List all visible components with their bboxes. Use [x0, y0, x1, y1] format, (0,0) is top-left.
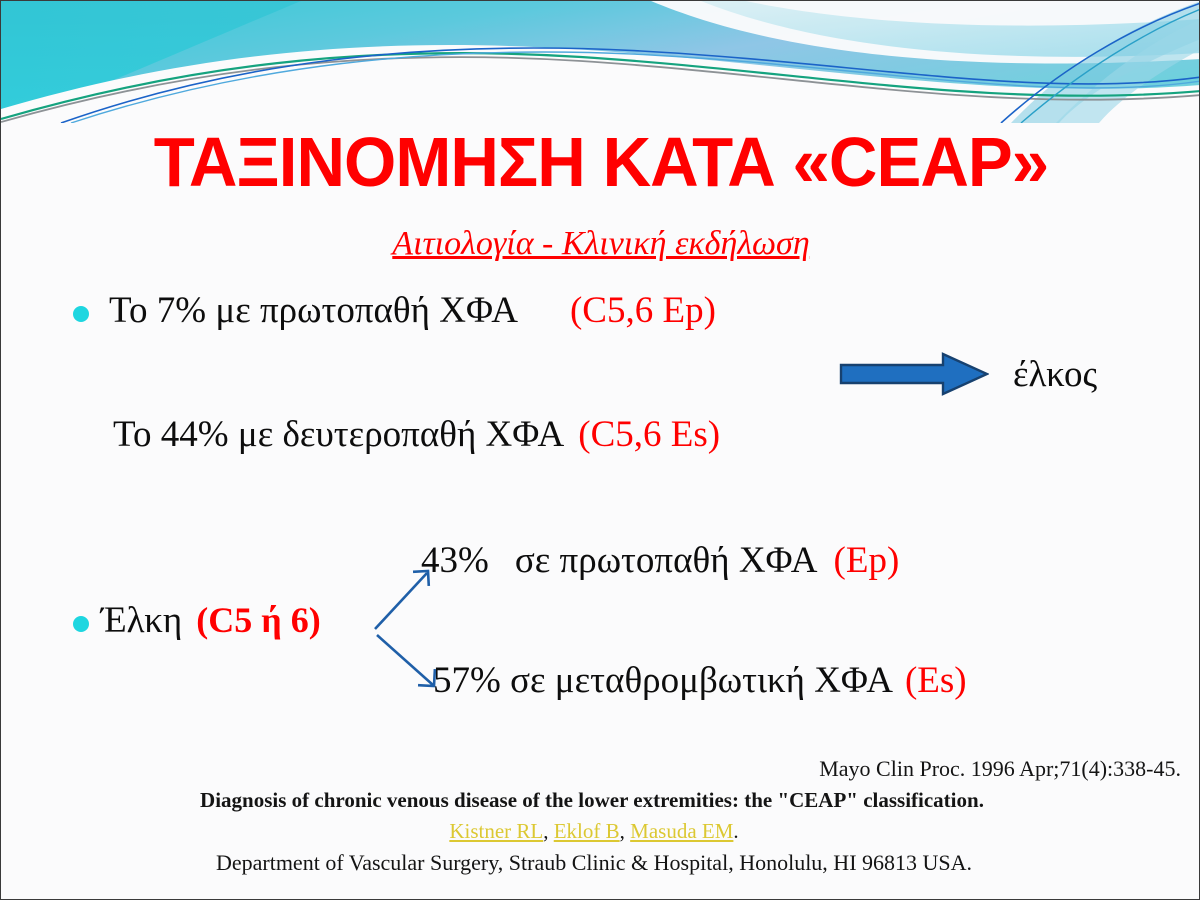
slide: ΤΑΞΙΝΟΜΗΣΗ ΚΑΤΑ «CEAP» Αιτιολογία - Κλιν… [0, 0, 1200, 900]
header-banner-decoration [1, 1, 1200, 123]
branch-lower-text: σε μεταθρομβωτική ΧΦΑ [510, 660, 893, 701]
body-line-2: Το 44% με δευτεροπαθή ΧΦΑ(C5,6 Es) [113, 413, 720, 456]
branch-upper-code: (Ep) [834, 540, 900, 581]
body-line-4: Έλκη(C5 ή 6) [101, 599, 321, 642]
body-line-1-code: (C5,6 Ep) [570, 290, 716, 331]
citation-journal: Mayo Clin Proc. 1996 Apr;71(4):338-45. [1, 756, 1181, 782]
right-block-arrow-icon [839, 352, 989, 396]
citation-department: Department of Vascular Surgery, Straub C… [1, 850, 1187, 876]
ulcer-result-label: έλκος [1013, 353, 1097, 396]
citation-authors: Kistner RL, Eklof B, Masuda EM. [1, 819, 1187, 844]
slide-subtitle: Αιτιολογία - Κλινική εκδήλωση [1, 223, 1200, 265]
branch-lower-percent: 57% [433, 660, 501, 701]
body-line-2-code: (C5,6 Es) [578, 414, 720, 455]
branch-lower-code: (Es) [905, 660, 967, 701]
body-line-1-text: Το 7% με πρωτοπαθή ΧΦΑ [109, 290, 518, 331]
author-link-2[interactable]: Eklof B [554, 819, 620, 843]
body-line-4-code: (C5 ή 6) [196, 600, 320, 640]
branch-line-lower: 57% σε μεταθρομβωτική ΧΦΑ(Es) [433, 659, 967, 702]
body-line-2-text: Το 44% με δευτεροπαθή ΧΦΑ [113, 414, 564, 455]
author-sep-1: , [543, 819, 554, 843]
author-end: . [733, 819, 738, 843]
body-line-4-text: Έλκη [101, 600, 182, 641]
author-link-1[interactable]: Kistner RL [449, 819, 543, 843]
branch-upper-text: σε πρωτοπαθή ΧΦΑ [515, 540, 818, 581]
bullet-marker-2 [73, 616, 89, 632]
body-line-1: Το 7% με πρωτοπαθή ΧΦΑ(C5,6 Ep) [109, 289, 716, 332]
bullet-marker-1 [73, 306, 89, 322]
author-link-3[interactable]: Masuda EM [630, 819, 733, 843]
slide-title: ΤΑΞΙΝΟΜΗΣΗ ΚΑΤΑ «CEAP» [25, 123, 1177, 201]
citation-title: Diagnosis of chronic venous disease of t… [1, 788, 1183, 813]
author-sep-2: , [620, 819, 631, 843]
branch-line-upper: 43%σε πρωτοπαθή ΧΦΑ(Ep) [421, 539, 899, 582]
